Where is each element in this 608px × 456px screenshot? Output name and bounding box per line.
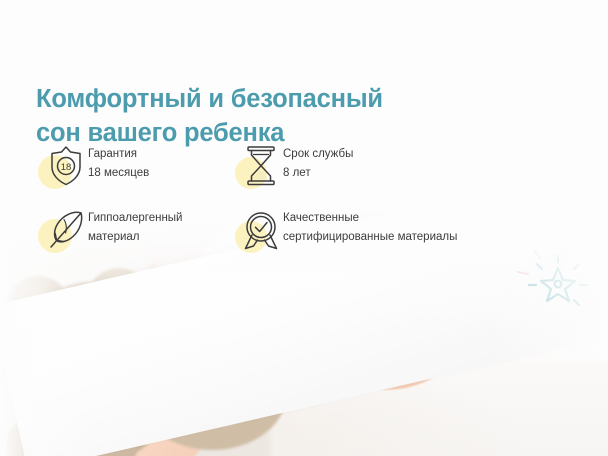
shield-badge-number: 18 — [61, 162, 72, 173]
promo-banner: Комфортный и безопасный сон вашего ребен… — [0, 0, 608, 456]
award-rosette-icon — [231, 205, 283, 255]
shield-18-icon: 18 — [36, 141, 88, 191]
feature-text-lifespan: Срок службы 8 лет — [283, 141, 353, 182]
feature-line-1: Гиппоалергенный — [88, 209, 182, 228]
feather-icon — [36, 205, 88, 255]
feature-line-1: Качественные — [283, 209, 457, 228]
feature-line-1: Срок службы — [283, 145, 353, 164]
feature-item-certified: Качественные сертифицированные материалы — [231, 205, 491, 255]
feature-row-2: Гиппоалергенный материал — [36, 205, 556, 255]
feature-item-lifespan: Срок службы 8 лет — [231, 141, 491, 191]
title-line-1: Комфортный и безопасный — [36, 85, 383, 113]
feature-row-1: 18 Гарантия 18 месяцев — [36, 141, 556, 191]
feature-line-2: материал — [88, 228, 182, 247]
feature-line-2: 18 месяцев — [88, 164, 149, 183]
feature-line-2: 8 лет — [283, 164, 353, 183]
feature-text-hypoallergenic: Гиппоалергенный материал — [88, 205, 182, 246]
feature-list: 18 Гарантия 18 месяцев — [36, 141, 556, 255]
hourglass-icon — [231, 141, 283, 191]
feature-item-warranty: 18 Гарантия 18 месяцев — [36, 141, 231, 191]
banner-content: Комфортный и безопасный сон вашего ребен… — [0, 0, 608, 456]
feature-item-hypoallergenic: Гиппоалергенный материал — [36, 205, 231, 255]
feature-text-warranty: Гарантия 18 месяцев — [88, 141, 149, 182]
feature-text-certified: Качественные сертифицированные материалы — [283, 205, 457, 246]
feature-line-1: Гарантия — [88, 145, 149, 164]
feature-line-2: сертифицированные материалы — [283, 228, 457, 247]
